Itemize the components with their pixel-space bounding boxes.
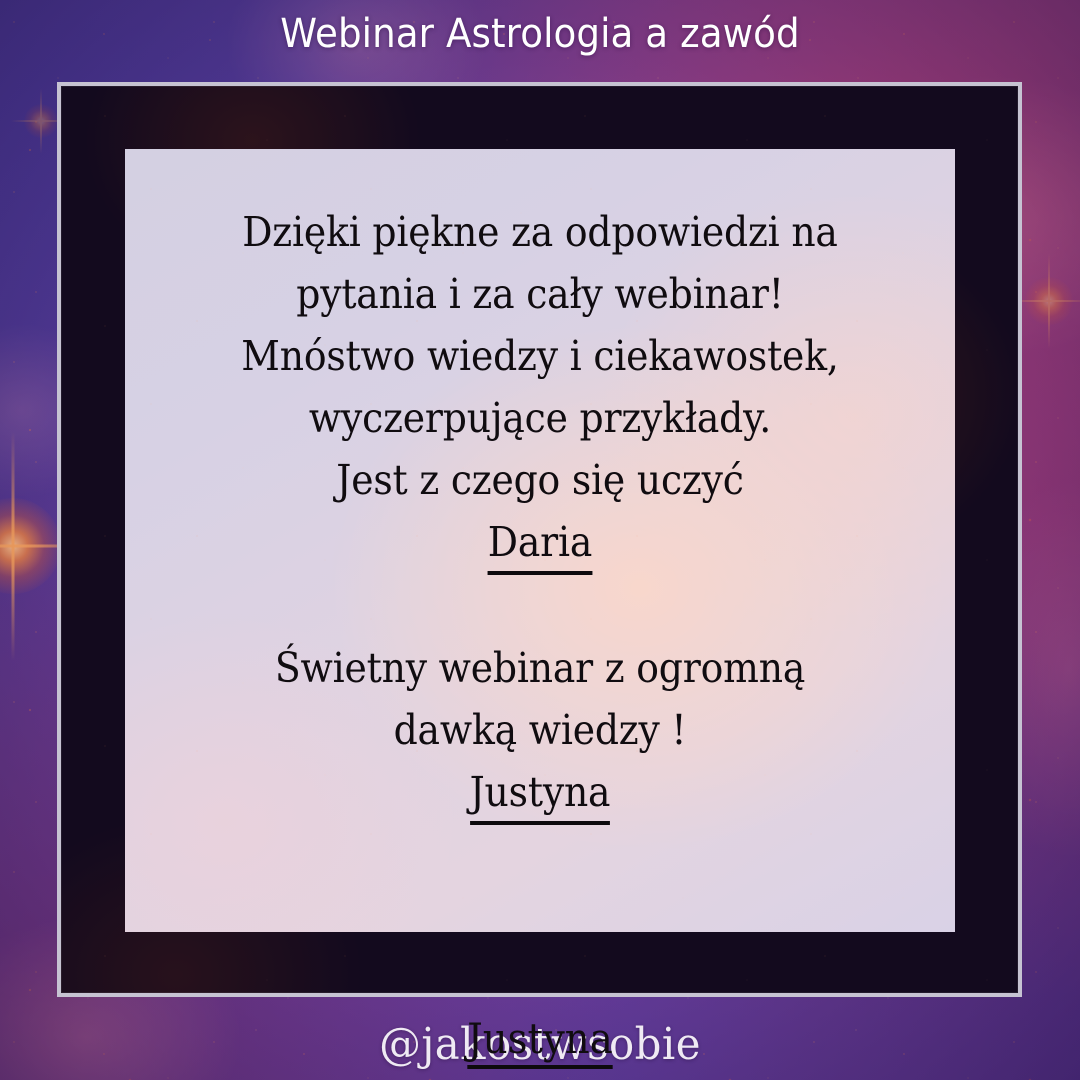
testimonial-line: Mnóstwo wiedzy i ciekawostek, xyxy=(182,325,898,387)
testimonial-list: Dzięki piękne za odpowiedzi na pytania i… xyxy=(158,149,922,825)
page-title: Webinar Astrologia a zawód xyxy=(38,14,1042,54)
testimonial-signature: Justyna xyxy=(470,764,611,825)
overflow-signature-text: Justyna xyxy=(43,1014,1037,1069)
testimonial-line: Świetny webinar z ogromną xyxy=(182,637,898,699)
testimonial-line: pytania i za cały webinar! xyxy=(182,263,898,325)
footer-area: @jakostwsobie Justyna xyxy=(0,1008,1080,1080)
testimonial-item: Świetny webinar z ogromną dawką wiedzy !… xyxy=(182,637,898,825)
testimonial-signature-line: Daria xyxy=(182,511,898,575)
poster-canvas: Webinar Astrologia a zawód Dzięki piękne… xyxy=(0,0,1080,1080)
testimonial-line: dawką wiedzy ! xyxy=(182,699,898,761)
testimonial-spacer xyxy=(182,575,898,637)
testimonial-line: Jest z czego się uczyć xyxy=(182,449,898,511)
overflow-signature-label: Justyna xyxy=(467,1014,612,1069)
testimonial-line: wyczerpujące przykłady. xyxy=(182,387,898,449)
testimonial-line: Dzięki piękne za odpowiedzi na xyxy=(182,201,898,263)
testimonial-item: Dzięki piękne za odpowiedzi na pytania i… xyxy=(182,201,898,575)
testimonial-signature: Daria xyxy=(488,514,592,575)
testimonial-signature-line: Justyna xyxy=(182,761,898,825)
testimonial-card: Dzięki piękne za odpowiedzi na pytania i… xyxy=(125,149,955,932)
